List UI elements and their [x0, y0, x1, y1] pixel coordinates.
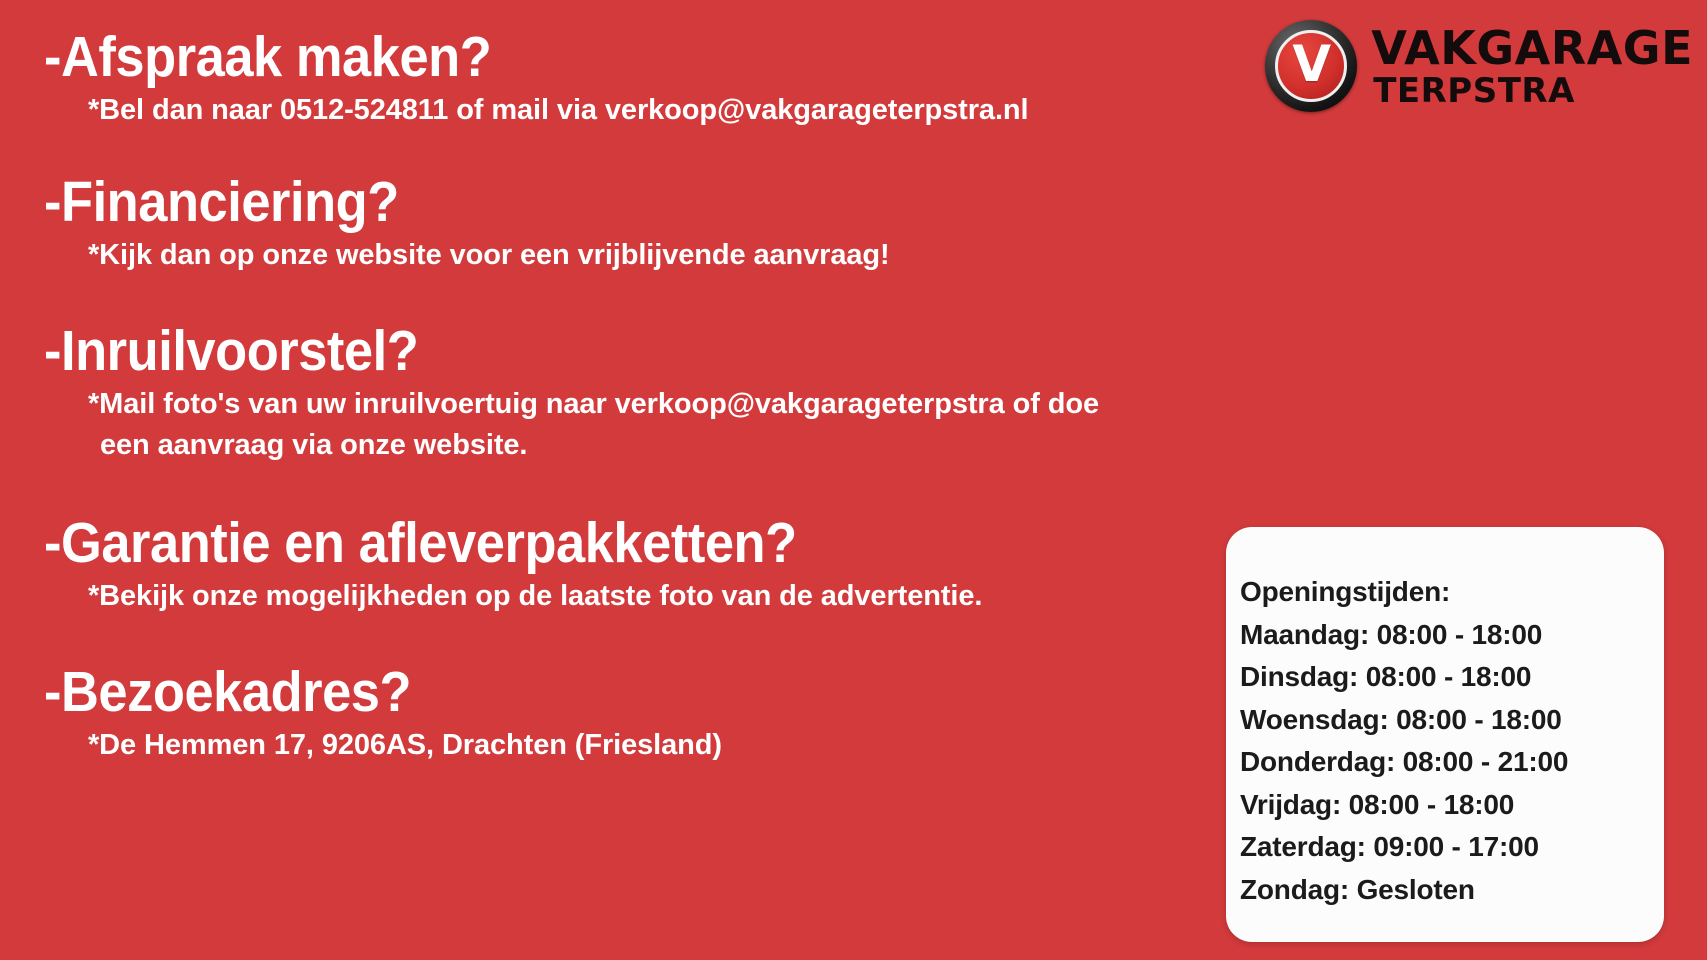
- opening-hours-row-donderdag: Donderdag: 08:00 - 21:00: [1240, 741, 1664, 784]
- logo-brand-name: VAKGARAGE: [1371, 26, 1693, 71]
- section-heading: -Garantie en afleverpakketten?: [44, 514, 1166, 574]
- section-inruilvoorstel: -Inruilvoorstel? *Mail foto's van uw inr…: [44, 322, 1264, 466]
- section-bezoekadres: -Bezoekadres? *De Hemmen 17, 9206AS, Dra…: [44, 663, 1264, 766]
- opening-hours-row-woensdag: Woensdag: 08:00 - 18:00: [1240, 699, 1664, 742]
- logo-brand-sub: TERPSTRA: [1373, 74, 1693, 108]
- section-garantie-afleverpakketten: -Garantie en afleverpakketten? *Bekijk o…: [44, 514, 1264, 617]
- section-line: *De Hemmen 17, 9206AS, Drachten (Friesla…: [88, 725, 1264, 766]
- opening-hours-row-zondag: Zondag: Gesloten: [1240, 869, 1664, 912]
- section-afspraak-maken: -Afspraak maken? *Bel dan naar 0512-5248…: [44, 28, 1264, 131]
- opening-hours-row-dinsdag: Dinsdag: 08:00 - 18:00: [1240, 656, 1664, 699]
- opening-hours-row-zaterdag: Zaterdag: 09:00 - 17:00: [1240, 826, 1664, 869]
- section-heading: -Afspraak maken?: [44, 28, 1166, 88]
- section-line: *Mail foto's van uw inruilvoertuig naar …: [88, 384, 1264, 425]
- opening-hours-row-vrijdag: Vrijdag: 08:00 - 18:00: [1240, 784, 1664, 827]
- opening-hours-card: Openingstijden: Maandag: 08:00 - 18:00 D…: [1226, 527, 1664, 942]
- section-line: *Kijk dan op onze website voor een vrijb…: [88, 235, 1264, 276]
- section-heading: -Bezoekadres?: [44, 663, 1166, 723]
- section-lines: *De Hemmen 17, 9206AS, Drachten (Friesla…: [88, 725, 1264, 766]
- section-heading: -Financiering?: [44, 173, 1166, 233]
- vakgarage-v-badge-icon: V: [1265, 20, 1357, 112]
- logo-v-letter: V: [1292, 39, 1330, 89]
- logo-wordmark: VAKGARAGE TERPSTRA: [1371, 26, 1693, 107]
- section-lines: *Bel dan naar 0512-524811 of mail via ve…: [88, 90, 1264, 131]
- section-line: *Bekijk onze mogelijkheden op de laatste…: [88, 576, 1264, 617]
- section-heading: -Inruilvoorstel?: [44, 322, 1166, 382]
- section-financiering: -Financiering? *Kijk dan op onze website…: [44, 173, 1264, 276]
- section-line: een aanvraag via onze website.: [100, 425, 1264, 466]
- section-lines: *Mail foto's van uw inruilvoertuig naar …: [88, 384, 1264, 466]
- section-line: *Bel dan naar 0512-524811 of mail via ve…: [88, 90, 1264, 131]
- vakgarage-v-badge-inner: V: [1275, 30, 1347, 102]
- info-sections: -Afspraak maken? *Bel dan naar 0512-5248…: [44, 28, 1264, 766]
- section-lines: *Bekijk onze mogelijkheden op de laatste…: [88, 576, 1264, 617]
- opening-hours-row-maandag: Maandag: 08:00 - 18:00: [1240, 614, 1664, 657]
- opening-hours-title: Openingstijden:: [1240, 571, 1664, 614]
- promo-poster: V VAKGARAGE TERPSTRA -Afspraak maken? *B…: [0, 0, 1707, 960]
- section-lines: *Kijk dan op onze website voor een vrijb…: [88, 235, 1264, 276]
- vakgarage-terpstra-logo: V VAKGARAGE TERPSTRA: [1265, 18, 1693, 114]
